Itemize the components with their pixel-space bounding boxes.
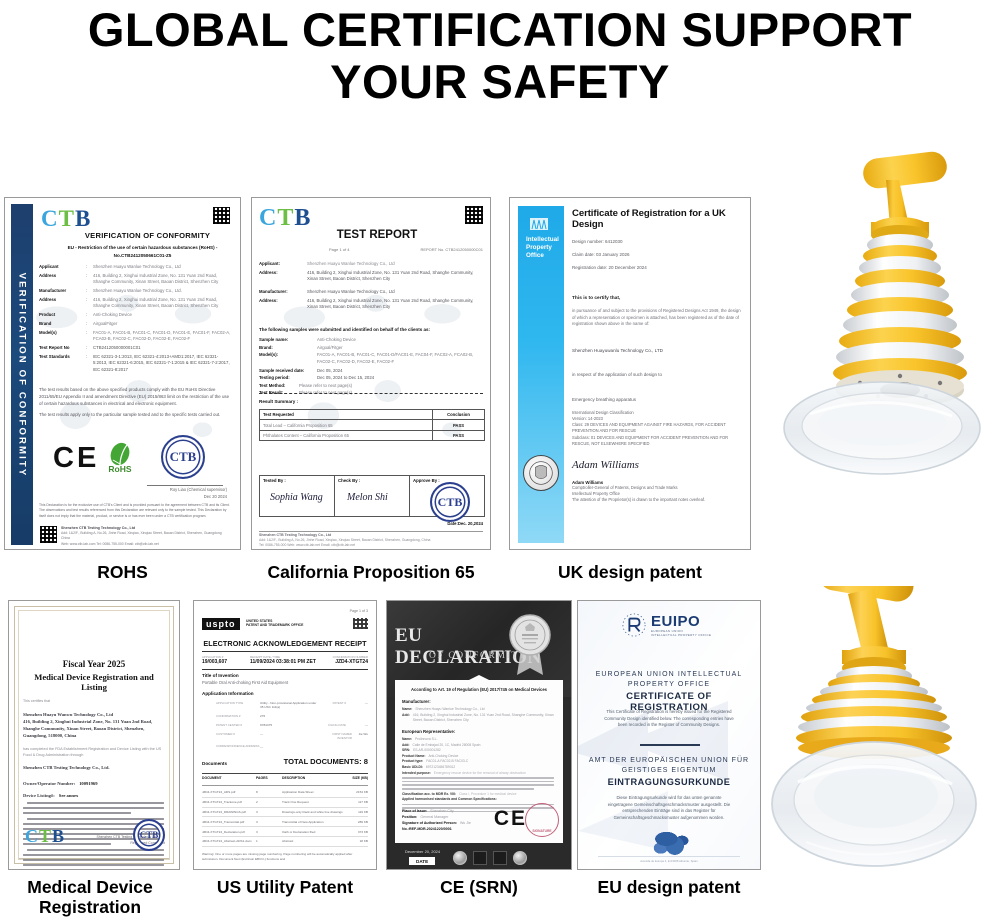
rohs-row-value: CTB2412050000001C01 xyxy=(93,345,231,351)
row-value: Shenzhen Huayu Wanlue Technology Co., Lt… xyxy=(307,261,483,267)
uspto-td: 289 KB xyxy=(346,820,368,824)
row-label: Test Method: xyxy=(259,383,295,388)
medical-company: Shenzhen Huayu Wanwu Technology Co., Ltd xyxy=(23,712,165,717)
uspto-td: JZD4-XTGT24_Trackone.pdf xyxy=(202,800,256,804)
ctb-logo: CTB xyxy=(25,826,65,847)
certificate-us-utility-patent[interactable]: Page 1 of 3 uspto UNITED STATES PATENT A… xyxy=(193,600,377,870)
uspto-app-label: CORRESPONDENCE ADDRESS xyxy=(216,745,260,749)
caption-us-utility: US Utility Patent xyxy=(193,877,377,897)
table-cell: PASS xyxy=(433,420,485,430)
table-cell: Total Lead – California Proposition 65 xyxy=(260,420,433,430)
rohs-row-label: Product xyxy=(39,312,83,318)
uspto-title-of-invention-label: Title of Invention xyxy=(202,673,239,678)
euipo-mark-icon xyxy=(622,613,646,637)
ce-row-label: Product type: xyxy=(402,759,423,763)
ce-mark-icon: CE xyxy=(494,807,527,831)
ce-signature-person: Wu Jie xyxy=(460,821,471,825)
medical-address-3: Guangdong, 518000, China xyxy=(23,733,165,738)
rohs-row-label: Test Report No xyxy=(39,345,83,351)
rohs-row-label: Test Standards xyxy=(39,354,83,373)
uspto-app-info-label: Application Information xyxy=(202,691,254,696)
signature-script: Sophia Wang xyxy=(270,492,323,503)
uspto-td: JZD4-XTGT24_Abstract-ADS1.docx xyxy=(202,839,256,843)
table-header-cell: Conclusion xyxy=(433,410,485,420)
ce-row-label: Basic UDI-DI: xyxy=(402,765,423,769)
test-submitted-line: The following samples were submitted and… xyxy=(259,327,483,332)
rohs-field-rows: Applicant : Shenzhen Huayu Wanlue Techno… xyxy=(39,264,231,376)
row-value: Airgoal/Fitger xyxy=(317,345,483,350)
uspto-doc-rows: JZD4-XTGT24_ADS.pdf 8 Application Data S… xyxy=(202,788,368,847)
caption-medical: Medical Device Registration xyxy=(0,877,180,917)
row-value: Dec 05, 2024 to Dec 15, 2024 xyxy=(317,375,483,380)
ce-row-label: Add: xyxy=(402,713,410,722)
row-value: 416, Building 2, Xinghui Industrial Zone… xyxy=(307,270,483,283)
signature-rule xyxy=(147,485,223,486)
uspto-app-value: Jie Wu xyxy=(352,732,368,740)
row-value: FAC01-A, FAC01-B, FAC01-C, FAC01-D/FAC01… xyxy=(317,352,483,365)
ctb-logo-t: T xyxy=(39,826,52,846)
rohs-green-badge-icon: RoHS xyxy=(101,442,139,476)
medical-certify: This certifies that xyxy=(23,699,165,703)
uspto-total-documents: TOTAL DOCUMENTS: 8 xyxy=(284,757,368,766)
ce-signature-stamp: SIGNATURE xyxy=(525,803,559,837)
ce-row-value: Calle de Embajad 20, 1C, Madrid 28008 Sp… xyxy=(413,743,481,747)
ctb-logo-t: T xyxy=(277,205,294,231)
page-title-line2: YOUR SAFETY xyxy=(0,56,1000,108)
medical-owner-number-row: Owner/Operator Number: 10091969 xyxy=(23,781,165,786)
rohs-body: CTB VERIFICATION OF CONFORMITY EU - Rest… xyxy=(37,204,236,545)
certificate-medical-device[interactable]: Fiscal Year 2025 Medical Device Registra… xyxy=(8,600,180,870)
rohs-footer-contact: Web: www.ctb-lab.com Tel: 0086-755-000 E… xyxy=(61,542,231,546)
ce-seal-icon-4 xyxy=(513,851,527,865)
table-row: JZD4-XTGT24_Declaration.pdf 3 Oath or De… xyxy=(202,827,368,837)
uspto-td: JZD4-XTGT24_DRAWINGS.pdf xyxy=(202,810,256,814)
caption-medical-l2: Registration xyxy=(0,897,180,917)
test-report-page: Page 1 of 4 xyxy=(329,247,349,252)
medical-owner-number-label: Owner/Operator Number: xyxy=(23,781,75,786)
uk-crest-icon xyxy=(528,216,550,232)
rohs-paragraph-2: The test results apply only to the parti… xyxy=(39,411,231,418)
test-footer-address: Add: 1&2/F., Building A, No.26, Jinhe Ro… xyxy=(259,538,483,542)
divider xyxy=(259,531,483,532)
ce-position-row: Position: General Manager xyxy=(402,815,448,819)
rohs-row-value: IEC 62321-3-1:2013, IEC 62321-4:2013+AMD… xyxy=(93,354,231,373)
ce-row-value: Anti-Choking Device xyxy=(428,754,458,758)
certificate-ce-srn[interactable]: EU DECLARATION OF CONFORMITY According t… xyxy=(386,600,572,870)
uspto-td: Oath or Declaration filed xyxy=(282,830,346,834)
euipo-de-title-2: GEISTIGES EIGENTUM xyxy=(588,767,750,774)
uspto-td: Transmittal of New Application xyxy=(282,820,346,824)
table-row: JZD4-XTGT24_Abstract-ADS1.docx 1 Abstrac… xyxy=(202,837,368,847)
uspto-td: 117 KB xyxy=(346,800,368,804)
euipo-footer: Avenida de Europa 4, E-03008 Alicante, S… xyxy=(598,856,740,863)
ce-mark-icon: CE xyxy=(53,444,99,473)
uspto-app-value: 9784475 xyxy=(260,723,318,727)
caption-prop65: California Proposition 65 xyxy=(251,562,491,582)
uspto-field-value: JZD4-XTGT24 xyxy=(330,659,368,665)
row-label: Address: xyxy=(259,298,303,311)
signature-box: Approve By : CTB xyxy=(410,476,484,516)
test-report-body: CTB TEST REPORT Page 1 of 4 REPORT No. C… xyxy=(257,203,485,544)
uk-ipo-name-l2: Property xyxy=(526,244,566,252)
caption-eu-design: EU design patent xyxy=(577,877,761,897)
rohs-disclaimer: This Declaration is for the exclusive us… xyxy=(39,503,231,519)
uspto-app-value: — xyxy=(260,745,318,749)
test-sample-rows: Sample name: Anti-Choking Device Brand: … xyxy=(259,337,483,398)
ctb-stamp: CTB xyxy=(430,482,470,522)
uk-ipo-name-l1: Intellectual xyxy=(526,236,566,244)
ce-position: General Manager xyxy=(420,815,448,819)
uspto-td: JZD4-XTGT24_Declaration.pdf xyxy=(202,830,256,834)
uspto-documents-label: Documents xyxy=(202,761,227,766)
euipo-de-body: Diese Eintragungsurkunde wird für das un… xyxy=(604,795,734,821)
table-header-row: Test Requested Conclusion xyxy=(260,410,485,420)
rohs-row-label: Model(s) xyxy=(39,330,83,342)
row-value: Please refer to next page(s) xyxy=(299,383,483,388)
uspto-table-header: DOCUMENT PAGES DESCRIPTION SIZE (KB) xyxy=(202,776,368,780)
rohs-footer-company: Shenzhen CTB Testing Technology Co., Ltd xyxy=(61,526,231,530)
medical-owner-number: 10091969 xyxy=(79,781,97,786)
ce-place-row: Place of Issue: Shenzhen City xyxy=(402,809,454,813)
uk-certify-body: in pursuance of and subject to the provi… xyxy=(572,308,742,328)
uk-ipo-band: Intellectual Property Office xyxy=(518,206,564,543)
page-title-line1: GLOBAL CERTIFICATION SUPPORT xyxy=(88,3,912,56)
rohs-row-value: FAC01-A, FAC01-B, FAC01-C, FAC01-D, FAC0… xyxy=(93,330,231,342)
uspto-app-label: PATENT # xyxy=(318,701,346,709)
caption-medical-l1: Medical Device xyxy=(0,877,180,897)
ctb-stamp: CTB xyxy=(133,819,165,851)
uspto-td: Application Data Sheet xyxy=(282,790,346,794)
certificate-test-report[interactable]: CTB TEST REPORT Page 1 of 4 REPORT No. C… xyxy=(251,197,491,550)
row-label: Sample name: xyxy=(259,337,313,342)
row-value: Anti-Choking Device xyxy=(317,337,483,342)
ce-row-value: ES-AR-000001282 xyxy=(413,748,441,752)
euipo-en-title-1: EUROPEAN UNION INTELLECTUAL xyxy=(588,671,750,678)
uspto-app-info: APPLICATION TYPE Utility - Non-provision… xyxy=(216,701,368,749)
uk-design-number: Design number: 6412030 xyxy=(572,239,742,244)
rohs-row-value: 416, Building 2, Xinghui Industrial Zone… xyxy=(93,297,231,309)
ce-eurep-rows: Name:Prolinnova S.L. Add:Calle de Embaja… xyxy=(402,737,556,814)
rohs-badge-label: RoHS xyxy=(101,464,139,474)
signature-boxes: Tested By : Sophia Wang Check By : Melon… xyxy=(259,475,485,517)
divider xyxy=(19,858,169,859)
uk-holder: Shenzhen Huayuwanlu Technology Co., LTD xyxy=(572,348,742,353)
caption-rohs: ROHS xyxy=(4,562,241,582)
uspto-warning: Warning: One or more pages are missing p… xyxy=(202,852,368,861)
rohs-refno: No.CTB2412050661C01-Z5 xyxy=(55,253,230,258)
test-result-table: Test Requested Conclusion Total Lead – C… xyxy=(259,409,485,441)
ce-row-value: 6972123456789012 xyxy=(426,765,455,769)
uspto-td: Abstract xyxy=(282,839,346,843)
ctb-logo-b: B xyxy=(294,205,311,231)
caption-ce-srn: CE (SRN) xyxy=(386,877,572,897)
euipo-en-title-2: PROPERTY OFFICE xyxy=(588,681,750,688)
ce-row-value: Emergency rescue device for the removal … xyxy=(434,771,526,776)
uk-registration-date: Registration date: 20 December 2024 xyxy=(572,265,742,270)
uspto-body: Page 1 of 3 uspto UNITED STATES PATENT A… xyxy=(202,609,368,863)
uspto-td: 373 KB xyxy=(346,830,368,834)
ce-position-label: Position: xyxy=(402,815,417,819)
qr-code-icon xyxy=(465,206,483,224)
uspto-app-label: CONFIRMATION # xyxy=(216,714,260,718)
uspto-title-of-invention: Portable Oral Anti-choking First Aid Equ… xyxy=(202,680,288,685)
uspto-td: Drawings-only black and white line drawi… xyxy=(282,810,346,814)
rohs-signer: Roy Liao (Chemical supervisor) xyxy=(141,487,227,492)
rohs-row-value: Shenzhen Huayu Wanlue Technology Co., Lt… xyxy=(93,288,231,294)
euipo-logo-sub-2: INTELLECTUAL PROPERTY OFFICE xyxy=(651,633,711,637)
uspto-title: ELECTRONIC ACKNOWLEDGEMENT RECEIPT xyxy=(202,639,368,648)
rohs-title: VERIFICATION OF CONFORMITY xyxy=(65,231,230,240)
medical-fiscal-year: Fiscal Year 2025 xyxy=(23,659,165,669)
ctb-logo: CTB xyxy=(259,205,311,232)
uk-design-title: Emergency breathing apparatus xyxy=(572,397,742,402)
footer-qr-icon xyxy=(40,526,57,543)
ctb-logo-c: C xyxy=(25,826,39,846)
royal-seal-icon xyxy=(523,455,559,491)
divider xyxy=(202,773,368,774)
ce-row-label: Name: xyxy=(402,707,412,711)
ce-according: According to Art. 19 of Regulation (EU) … xyxy=(402,687,556,692)
uk-classification: International Design Classification Vers… xyxy=(572,410,742,447)
euipo-logo-text: EUIPO xyxy=(651,614,711,629)
signature-script: Melon Shi xyxy=(347,492,388,503)
rohs-subtitle: EU - Restriction of the use of certain h… xyxy=(55,245,230,250)
table-cell: Phthalates Content – California Proposit… xyxy=(260,430,433,440)
rohs-row-value: AirgoalFitger xyxy=(93,321,231,327)
uspto-td: 119 KB xyxy=(346,810,368,814)
rohs-paragraph-1: The test results based on the above spec… xyxy=(39,386,231,408)
row-value: 416, Building 2, Xinghui Industrial Zone… xyxy=(307,298,483,311)
uspto-app-label: FIRST NAMED INVENTOR xyxy=(318,732,352,740)
row-label: Manufacturer: xyxy=(259,289,303,295)
ce-row-label: Classification acc. to MDR Ex. VIII: xyxy=(402,792,456,796)
ce-medal-icon xyxy=(507,609,553,679)
ce-row-label: Add: xyxy=(402,743,410,747)
table-header-cell: Test Requested xyxy=(260,410,433,420)
euipo-logo: EUIPO EUROPEAN UNION INTELLECTUAL PROPER… xyxy=(622,613,711,637)
uspto-field-value: 19/003,607 xyxy=(202,659,250,665)
uk-certify-heading: This is to certify that, xyxy=(572,296,742,301)
uspto-field-value: 11/09/2024 03:38:01 PM ZET xyxy=(250,659,330,665)
uspto-td: 2 xyxy=(256,800,282,804)
table-row: JZD4-XTGT24_Transmittal.pdf 3 Transmitta… xyxy=(202,817,368,827)
page-root: GLOBAL CERTIFICATION SUPPORT YOUR SAFETY… xyxy=(0,0,1000,923)
signature-label: Approve By : xyxy=(413,478,440,483)
uspto-app-value: — xyxy=(346,701,368,709)
ce-row-label: Applied harmonised standards and Common … xyxy=(402,797,497,801)
row-label: Sample received date: xyxy=(259,368,313,373)
ce-row-label: Product Name: xyxy=(402,754,425,758)
row-label: Brand: xyxy=(259,345,313,350)
signature-box: Check By : Melon Shi xyxy=(335,476,410,516)
row-value: Shenzhen Huayu Wanlue Technology Co., Lt… xyxy=(307,289,483,295)
uspto-td: 3 xyxy=(256,830,282,834)
ce-date-label: DATE xyxy=(409,857,435,865)
caption-uk: UK design patent xyxy=(509,562,751,582)
ce-seal-icon-2 xyxy=(473,851,487,865)
uspto-logo: uspto xyxy=(202,618,240,630)
uspto-office-line2: PATENT AND TRADEMARK OFFICE xyxy=(246,623,303,627)
uspto-td: 3 xyxy=(256,810,282,814)
uspto-app-value: — xyxy=(260,732,318,740)
ce-row-value: Class I, Procedure 1 for medical device xyxy=(459,792,516,796)
test-report-rows: Applicant: Shenzhen Huayu Wanlue Technol… xyxy=(259,261,483,314)
rohs-sideband: VERIFICATION OF CONFORMITY xyxy=(11,204,33,545)
ce-seal-icon-3 xyxy=(493,851,507,865)
rohs-row-value: 416, Building 2, Xinghui Industrial Zone… xyxy=(93,273,231,285)
uspto-app-label: CUSTOMER # xyxy=(216,732,260,740)
signature-label: Tested By : xyxy=(263,478,286,483)
uspto-app-label: APPLICATION TYPE xyxy=(216,701,260,709)
uk-ipo-name-l3: Office xyxy=(526,252,566,260)
divider xyxy=(202,785,368,786)
rohs-row-value: Anti-Choking Device xyxy=(93,312,231,318)
table-row: Total Lead – California Proposition 65 P… xyxy=(260,420,485,430)
ce-place-label: Place of Issue: xyxy=(402,809,427,813)
ce-row-label: Name: xyxy=(402,737,412,741)
uspto-field: RECEIPT DATE / TIME 11/09/2024 03:38:01 … xyxy=(250,655,330,665)
ctb-logo-c: C xyxy=(41,206,59,231)
ce-eurep-label: European Representative: xyxy=(402,729,455,734)
uk-ipo-name: Intellectual Property Office xyxy=(526,236,566,261)
signature-label: Check By : xyxy=(338,478,360,483)
certificate-rohs[interactable]: VERIFICATION OF CONFORMITY CTB VERIFICAT… xyxy=(4,197,241,550)
uspto-td: 2154 KB xyxy=(346,790,368,794)
uspto-page: Page 1 of 3 xyxy=(350,609,368,613)
ce-row-label: SRN: xyxy=(402,748,410,752)
ce-signature-label: Signature of Authorized Person: xyxy=(402,821,457,825)
ctb-logo-b: B xyxy=(52,826,65,846)
uspto-app-label: PATENT CENTER # xyxy=(216,723,260,727)
divider xyxy=(202,669,368,670)
row-label: Applicant: xyxy=(259,261,303,267)
row-label: Testing period: xyxy=(259,375,313,380)
uspto-td: JZD4-XTGT24_Transmittal.pdf xyxy=(202,820,256,824)
medical-agent: Shenzhen CTB Testing Technology Co., Ltd… xyxy=(23,765,165,770)
uspto-app-value: 276 xyxy=(260,714,318,718)
medical-address-1: 416, Building 2, Xinghui Industrial Zone… xyxy=(23,719,165,724)
uspto-td: 3 xyxy=(256,820,282,824)
rohs-row-label: Brand xyxy=(39,321,83,327)
ce-row-value: FAC01-A FAC02-B FAC03-C xyxy=(426,759,468,763)
product-image-upright xyxy=(760,128,1000,490)
uspto-field: APPLICATION # 19/003,607 xyxy=(202,655,250,665)
ce-signature-row: Signature of Authorized Person: Wu Jie xyxy=(402,821,471,825)
rohs-footer-address: Add: 1&2/F., Building A, No.26, Jinhe Ro… xyxy=(61,531,231,540)
ce-man-row: Add: 416, Building 2, Xinghui Industrial… xyxy=(402,713,556,722)
uspto-td: 8 xyxy=(256,790,282,794)
ce-man-row: Name: Shenzhen Huayu Wanlue Technology C… xyxy=(402,707,556,711)
uspto-td: 1 xyxy=(256,839,282,843)
ce-place: Shenzhen City xyxy=(430,809,453,813)
ctb-logo-b: B xyxy=(75,206,91,231)
divider xyxy=(259,393,483,394)
uspto-th: PAGES xyxy=(256,776,282,780)
rohs-row-value: Shenzhen Huayu Wanlue Technology Co., Lt… xyxy=(93,264,231,270)
table-row: JZD4-XTGT24_DRAWINGS.pdf 3 Drawings-only… xyxy=(202,808,368,818)
ce-row-value: Prolinnova S.L. xyxy=(415,737,437,741)
divider xyxy=(202,651,368,652)
row-label: Model(s): xyxy=(259,352,313,365)
ctb-logo: CTB xyxy=(41,206,91,232)
ce-seal-icon-1 xyxy=(453,851,467,865)
medical-compliance: has completed the FDA Establishment Regi… xyxy=(23,747,165,758)
euipo-en-body: This Certificate of Registration is here… xyxy=(604,709,734,729)
uspto-barcode-icon xyxy=(353,618,368,629)
uspto-app-label: FILING DATE xyxy=(318,723,346,727)
uspto-fields: APPLICATION # 19/003,607 RECEIPT DATE / … xyxy=(202,655,368,665)
result-summary-label: Result Summary : xyxy=(259,399,298,404)
ce-row-value: Shenzhen Huayu Wanlue Technology Co., Lt… xyxy=(415,707,484,711)
uk-signer-title-3: The attention of the Proprietor(s) is dr… xyxy=(572,497,742,503)
rohs-date: Dec 20 2024 xyxy=(141,494,227,499)
uk-respect-line: in respect of the application of such de… xyxy=(572,372,742,377)
uk-claim-date: Claim date: 03 January 2026 xyxy=(572,252,742,257)
test-report-title: TEST REPORT xyxy=(317,229,437,241)
uspto-app-value: Utility - Non-provisional Application un… xyxy=(260,701,318,709)
uspto-th: DESCRIPTION xyxy=(282,776,346,780)
ce-row-label: Intended purpose: xyxy=(402,771,431,776)
ctb-logo-t: T xyxy=(59,206,75,231)
rohs-row-label: Manufacturer xyxy=(39,288,83,294)
test-date: Date:Dec. 20,2024 xyxy=(447,521,483,526)
uspto-office-name: UNITED STATES PATENT AND TRADEMARK OFFIC… xyxy=(246,619,303,628)
uk-body: Certificate of Registration for a UK Des… xyxy=(572,208,742,541)
row-value: Dec 05, 2024 xyxy=(317,368,483,373)
row-label: Address: xyxy=(259,270,303,283)
uspto-td: Track One Request xyxy=(282,800,346,804)
uspto-td: JZD4-XTGT24_ADS.pdf xyxy=(202,790,256,794)
euipo-de-title-3: EINTRAGUNGSURKUNDE xyxy=(588,777,750,787)
certificate-eu-design[interactable]: EUIPO EUROPEAN UNION INTELLECTUAL PROPER… xyxy=(577,600,761,870)
table-row: JZD4-XTGT24_Trackone.pdf 2 Track One Req… xyxy=(202,798,368,808)
medical-title: Medical Device Registration and Listing xyxy=(23,672,165,692)
uk-title: Certificate of Registration for a UK Des… xyxy=(572,208,742,230)
medical-device-listing-label: Device Listing#: xyxy=(23,793,55,798)
ce-ref: No.:REF-MDR-20241220/0001 xyxy=(402,827,452,831)
certificate-uk-design[interactable]: Intellectual Property Office Certificate… xyxy=(509,197,751,550)
rohs-row-label: Address xyxy=(39,297,83,309)
euipo-divider xyxy=(640,744,700,746)
ce-date: December 20, 2024 xyxy=(405,849,440,854)
uspto-field: CONFIRMATION NUMBER JZD4-XTGT24 xyxy=(330,655,368,665)
medical-address-2: Shanghe Community, Xinan Street, Baoan D… xyxy=(23,726,165,731)
uspto-th: DOCUMENT xyxy=(202,776,256,780)
page-title: GLOBAL CERTIFICATION SUPPORT YOUR SAFETY xyxy=(0,0,1000,108)
uk-signature-script: Adam Williams xyxy=(572,459,742,471)
medical-device-listing: See annex xyxy=(59,793,79,798)
qr-code-icon xyxy=(213,207,230,224)
table-cell: PASS xyxy=(433,430,485,440)
ctb-logo-c: C xyxy=(259,205,277,231)
uspto-th: SIZE (KB) xyxy=(346,776,368,780)
table-row: JZD4-XTGT24_ADS.pdf 8 Application Data S… xyxy=(202,788,368,798)
ce-sheet: According to Art. 19 of Regulation (EU) … xyxy=(395,675,563,843)
rohs-sideband-text: VERIFICATION OF CONFORMITY xyxy=(17,272,28,477)
uspto-app-value: — xyxy=(346,723,368,727)
ce-row-value: 416, Building 2, Xinghui Industrial Zone… xyxy=(413,713,556,722)
euipo-de-title-1: AMT DER EUROPÄISCHEN UNION FÜR xyxy=(588,757,750,764)
signature-box: Tested By : Sophia Wang xyxy=(260,476,335,516)
ctb-stamp: CTB xyxy=(161,435,205,479)
product-image-compressed xyxy=(770,586,1000,923)
test-footer-company: Shenzhen CTB Testing Technology Co., Ltd xyxy=(259,533,331,537)
uspto-td: 18 KB xyxy=(346,839,368,843)
rohs-row-label: Applicant xyxy=(39,264,83,270)
test-report-no: REPORT No. CTB2412050000C01 xyxy=(420,247,483,252)
rohs-row-label: Address xyxy=(39,273,83,285)
table-row: Phthalates Content – California Proposit… xyxy=(260,430,485,440)
